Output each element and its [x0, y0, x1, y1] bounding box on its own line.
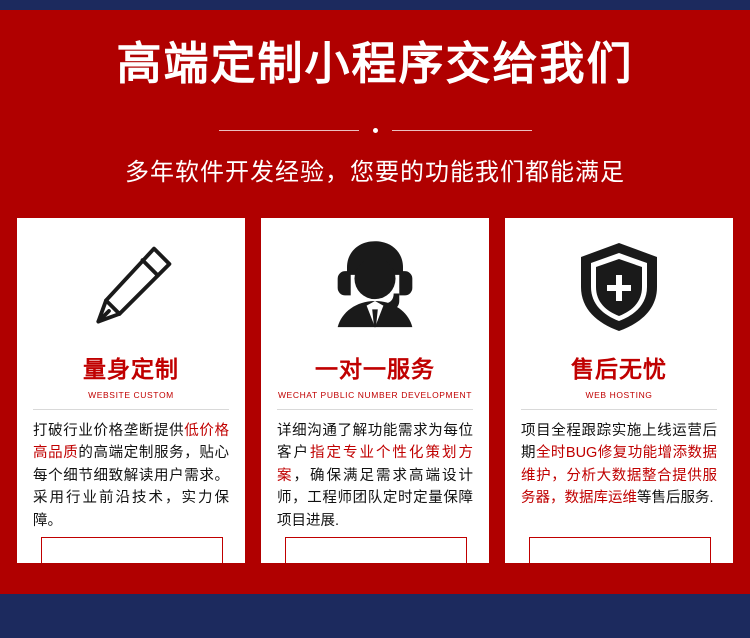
feature-card[interactable]: 量身定制 WEBSITE CUSTOM 打破行业价格垄断提供低价格高品质的高端定…	[17, 218, 245, 563]
card-body-part: ，确保满足需求高端设计师，工程师团队定时定量保障项目进展.	[277, 468, 473, 529]
card-title: 一对一服务	[261, 350, 489, 384]
feature-card[interactable]: 一对一服务 WECHAT PUBLIC NUMBER DEVELOPMENT 详…	[261, 218, 489, 563]
card-divider	[521, 409, 717, 410]
top-accent-bar	[0, 0, 750, 10]
pencil-icon	[17, 218, 245, 348]
divider-line-right	[392, 130, 532, 131]
card-body: 项目全程跟踪实施上线运营后期全时BUG修复功能增添数据维护，分析大数据整合提供服…	[521, 420, 717, 510]
card-action-button[interactable]	[285, 537, 467, 563]
card-action-button[interactable]	[529, 537, 711, 563]
shield-check-icon	[505, 218, 733, 348]
card-title: 售后无忧	[505, 350, 733, 384]
feature-card-list: 量身定制 WEBSITE CUSTOM 打破行业价格垄断提供低价格高品质的高端定…	[17, 218, 733, 563]
title-divider	[0, 128, 750, 133]
card-body-part: 等售后服务.	[637, 490, 714, 506]
card-body-part: 打破行业价格垄断提供	[33, 423, 184, 439]
divider-dot	[373, 128, 378, 133]
divider-line-left	[219, 130, 359, 131]
promo-banner: 高端定制小程序交给我们 多年软件开发经验，您要的功能我们都能满足 量身定制 WE…	[0, 0, 750, 638]
page-title: 高端定制小程序交给我们	[0, 38, 750, 90]
card-divider	[277, 409, 473, 410]
headset-support-icon	[261, 218, 489, 348]
card-subtitle: WECHAT PUBLIC NUMBER DEVELOPMENT	[261, 390, 489, 400]
page-subtitle: 多年软件开发经验，您要的功能我们都能满足	[0, 152, 750, 187]
card-subtitle: WEBSITE CUSTOM	[17, 390, 245, 400]
card-divider	[33, 409, 229, 410]
card-body: 详细沟通了解功能需求为每位客户指定专业个性化策划方案，确保满足需求高端设计师，工…	[277, 420, 473, 532]
card-body: 打破行业价格垄断提供低价格高品质的高端定制服务，贴心每个细节细致解读用户需求。采…	[33, 420, 229, 532]
feature-card[interactable]: 售后无忧 WEB HOSTING 项目全程跟踪实施上线运营后期全时BUG修复功能…	[505, 218, 733, 563]
card-subtitle: WEB HOSTING	[505, 390, 733, 400]
bottom-accent-bar	[0, 594, 750, 638]
card-title: 量身定制	[17, 350, 245, 384]
card-action-button[interactable]	[41, 537, 223, 563]
